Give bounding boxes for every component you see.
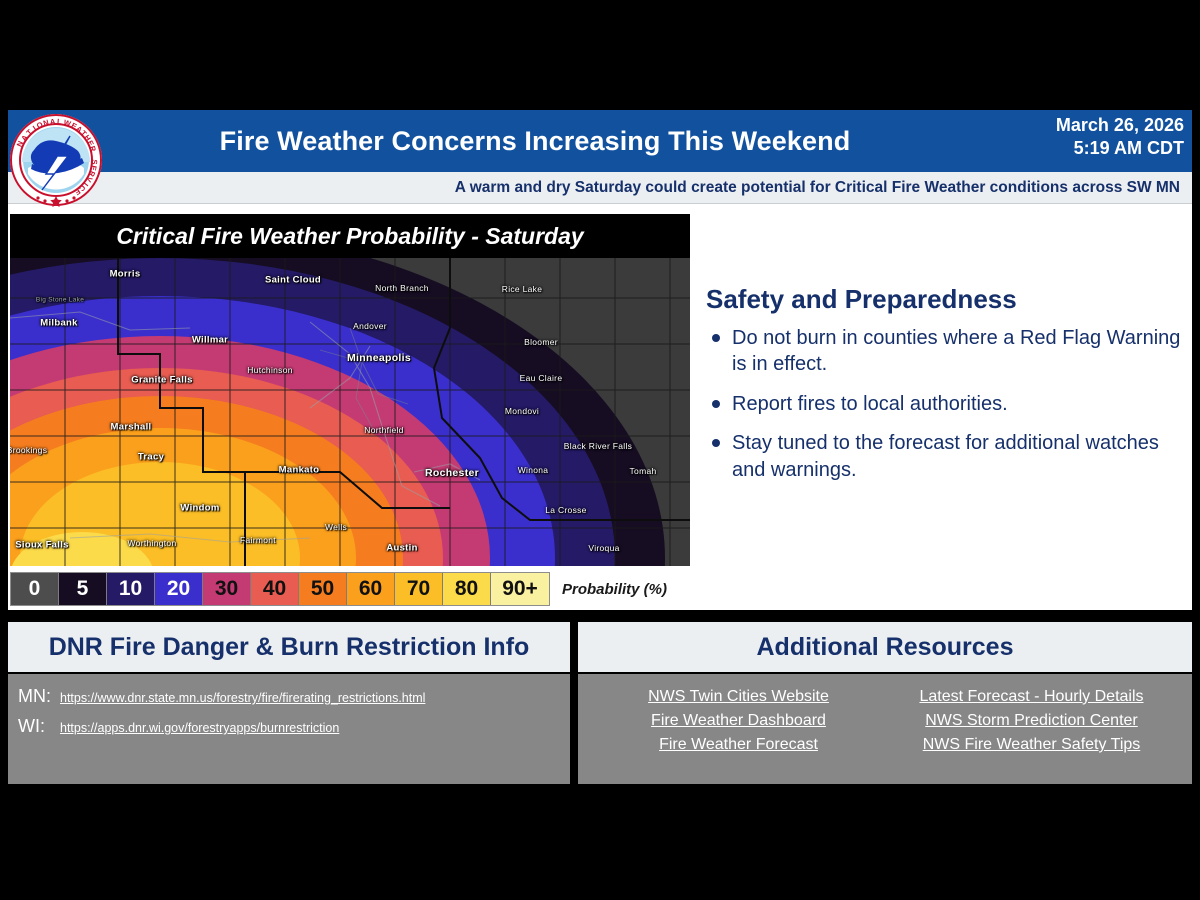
- resources-link-grid: NWS Twin Cities WebsiteLatest Forecast -…: [578, 684, 1192, 754]
- map-city-label: Mondovi: [505, 406, 539, 416]
- dnr-panel-heading: DNR Fire Danger & Burn Restriction Info: [8, 622, 570, 672]
- map-city-label: Hutchinson: [247, 365, 293, 375]
- map-figure: Critical Fire Weather Probability - Satu…: [10, 214, 690, 566]
- dnr-url-link[interactable]: https://www.dnr.state.mn.us/forestry/fir…: [60, 691, 425, 705]
- map-city-label: Eau Claire: [520, 373, 563, 383]
- header-date: March 26, 2026: [924, 114, 1184, 137]
- map-city-label: Rochester: [425, 467, 479, 479]
- safety-list-item-text: Stay tuned to the forecast for additiona…: [732, 432, 1159, 480]
- dnr-panel-body: MN:https://www.dnr.state.mn.us/forestry/…: [8, 674, 570, 784]
- header-time: 5:19 AM CDT: [924, 137, 1184, 160]
- map-city-label: Willmar: [192, 335, 228, 346]
- dnr-state-label: WI:: [18, 716, 60, 737]
- map-city-label: Tracy: [138, 452, 164, 463]
- map-city-label: Tomah: [629, 466, 656, 476]
- bullet-icon: [712, 439, 720, 447]
- map-city-label: Rice Lake: [502, 284, 543, 294]
- dnr-row: MN:https://www.dnr.state.mn.us/forestry/…: [18, 686, 570, 707]
- resources-panel-heading: Additional Resources: [578, 622, 1192, 672]
- dnr-row: WI:https://apps.dnr.wi.gov/forestryapps/…: [18, 716, 570, 737]
- legend-swatch-5: 5: [59, 573, 107, 605]
- map-city-label: Austin: [386, 543, 417, 554]
- nws-logo: N A T I O N A L W E A T H E R S E R V I: [8, 112, 104, 208]
- resource-link[interactable]: NWS Twin Cities Website: [648, 688, 829, 706]
- map-city-label: Morris: [110, 269, 141, 280]
- safety-list: Do not burn in counties where a Red Flag…: [706, 325, 1182, 483]
- map-city-label: Black River Falls: [564, 441, 632, 451]
- page-title: Fire Weather Concerns Increasing This We…: [120, 110, 950, 172]
- legend-swatch-30: 30: [203, 573, 251, 605]
- map-city-label: Wells: [325, 522, 347, 532]
- bullet-icon: [712, 334, 720, 342]
- resource-link[interactable]: NWS Fire Weather Safety Tips: [923, 736, 1141, 754]
- map-city-label: Bloomer: [524, 337, 558, 347]
- map-city-label: Milbank: [40, 318, 77, 329]
- header-datetime: March 26, 2026 5:19 AM CDT: [924, 114, 1184, 159]
- dnr-url-link[interactable]: https://apps.dnr.wi.gov/forestryapps/bur…: [60, 721, 339, 735]
- map-title: Critical Fire Weather Probability - Satu…: [10, 214, 690, 258]
- map-city-label: Marshall: [111, 422, 152, 433]
- infographic-root: N A T I O N A L W E A T H E R S E R V I: [0, 0, 1200, 900]
- legend-swatch-50: 50: [299, 573, 347, 605]
- resource-link[interactable]: NWS Storm Prediction Center: [925, 712, 1138, 730]
- map-city-label: Andover: [353, 321, 387, 331]
- resource-link[interactable]: Fire Weather Forecast: [659, 736, 818, 754]
- legend-swatch-60: 60: [347, 573, 395, 605]
- dnr-state-label: MN:: [18, 686, 60, 707]
- map-city-label: Windom: [180, 503, 219, 514]
- map-city-label: Saint Cloud: [265, 275, 321, 286]
- map-city-label: Mankato: [279, 465, 320, 476]
- map-city-label: North Branch: [375, 283, 429, 293]
- safety-list-item: Stay tuned to the forecast for additiona…: [706, 430, 1182, 483]
- legend-swatch-90plus: 90+: [491, 573, 549, 605]
- safety-list-item: Do not burn in counties where a Red Flag…: [706, 325, 1182, 378]
- subtitle-text: A warm and dry Saturday could create pot…: [455, 179, 1180, 197]
- subtitle-bar: A warm and dry Saturday could create pot…: [8, 172, 1192, 204]
- legend-swatch-10: 10: [107, 573, 155, 605]
- map-city-label: Northfield: [364, 425, 403, 435]
- resources-panel-body: NWS Twin Cities WebsiteLatest Forecast -…: [578, 674, 1192, 784]
- map-city-label: La Crosse: [545, 505, 586, 515]
- legend-swatch-70: 70: [395, 573, 443, 605]
- legend-swatch-40: 40: [251, 573, 299, 605]
- map-canvas[interactable]: MorrisSaint CloudNorth BranchRice LakeBi…: [10, 258, 690, 566]
- map-city-label: Granite Falls: [131, 375, 192, 386]
- map-city-label: Sioux Falls: [15, 540, 68, 551]
- legend-swatch-20: 20: [155, 573, 203, 605]
- safety-section: Safety and Preparedness Do not burn in c…: [706, 284, 1182, 496]
- safety-heading: Safety and Preparedness: [706, 284, 1182, 315]
- bullet-icon: [712, 400, 720, 408]
- legend-caption: Probability (%): [562, 581, 667, 598]
- probability-contours: [10, 258, 690, 566]
- legend-swatch-0: 0: [11, 573, 59, 605]
- legend-color-strip: 05102030405060708090+: [10, 572, 550, 606]
- resource-link[interactable]: Fire Weather Dashboard: [651, 712, 826, 730]
- safety-list-item-text: Report fires to local authorities.: [732, 393, 1008, 415]
- safety-list-item-text: Do not burn in counties where a Red Flag…: [732, 327, 1180, 375]
- map-city-label: Big Stone Lake: [36, 297, 84, 304]
- map-city-label: Minneapolis: [347, 352, 411, 364]
- probability-legend: 05102030405060708090+ Probability (%): [10, 572, 667, 606]
- map-city-label: Brookings: [10, 445, 47, 455]
- map-city-label: Viroqua: [588, 543, 619, 553]
- map-city-label: Worthington: [128, 538, 177, 548]
- safety-list-item: Report fires to local authorities.: [706, 391, 1182, 417]
- resource-link[interactable]: Latest Forecast - Hourly Details: [919, 688, 1143, 706]
- map-city-label: Winona: [518, 465, 549, 475]
- map-city-label: Fairmont: [240, 535, 276, 545]
- legend-swatch-80: 80: [443, 573, 491, 605]
